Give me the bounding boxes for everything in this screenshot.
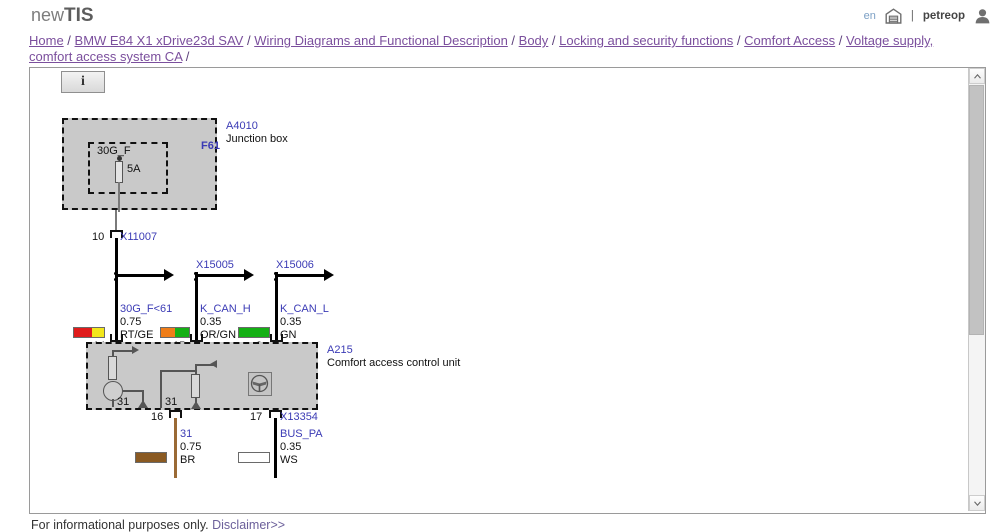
fuse-symbol [115,161,123,183]
junction-box-A4010: 30G_F 5A [62,118,217,210]
fuse-rating-label: 5A [127,163,140,175]
wire-csa-bottom-2: 0.35 [280,441,301,453]
scrollbar-thumb[interactable] [969,85,984,335]
wire-label-BUS-PA: BUS_PA [280,428,323,440]
wire-label-31: 31 [180,428,192,440]
scroll-up-button[interactable] [969,68,985,84]
control-unit-A215: 31 31 [86,342,318,410]
symbol-wire [160,370,162,408]
fuse-terminal-dot [117,156,122,161]
pin-label-10: 10 [92,231,104,243]
wire-colour-code-bottom-2: WS [280,454,298,466]
wire-K-CAN-L [275,272,278,342]
logo-text-light: new [31,5,64,25]
breadcrumb: Home / BMW E84 X1 xDrive23d SAV / Wiring… [29,33,974,65]
wiring-diagram: i 30G_F 5A F61 A4010 Junction box 10 X11… [30,68,968,511]
junction-box-name-label: Junction box [226,133,288,145]
wire-30G-F [115,238,118,342]
resistor-symbol-2 [191,374,200,398]
wire-csa-bottom-1: 0.75 [180,441,201,453]
symbol-wire [112,350,134,352]
wire-colour-chip-2 [160,327,190,338]
wire-colour-code-1: RT/GE [120,329,153,341]
language-link[interactable]: en [864,10,876,22]
breadcrumb-item-body[interactable]: Body [519,33,549,48]
pin-label-16: 16 [151,411,163,423]
branch-arrow-1 [164,269,174,281]
wire-colour-code-2: OR/GN [200,329,236,341]
connector-cup-pin-16 [169,410,182,418]
symbol-arrow-2 [210,360,217,368]
ground-symbol-2 [191,401,201,409]
breadcrumb-separator: / [243,33,254,48]
branch-arrow-3 [324,269,334,281]
ground-symbol [138,400,148,408]
connector-cup-pin-15 [190,334,203,342]
breadcrumb-separator: / [508,33,519,48]
wire-junction-dot [194,278,197,281]
wire-junction-dot [114,272,117,275]
footer-text: For informational purposes only. [31,518,209,532]
wiring-diagram-viewer: i 30G_F 5A F61 A4010 Junction box 10 X11… [29,67,986,514]
connector-label-X11007: X11007 [120,231,157,243]
fuse-circuit-label: 30G_F [97,145,131,157]
symbol-arrow [132,346,139,354]
breadcrumb-separator: / [182,49,189,64]
breadcrumb-item-comfort-access[interactable]: Comfort Access [744,33,835,48]
connector-label-X15005: X15005 [196,259,234,271]
wire-colour-chip-1 [73,327,105,338]
logo-text-bold: TIS [64,5,94,26]
footer: For informational purposes only. Disclai… [31,518,285,532]
control-unit-id-label: A215 [327,344,353,356]
header-right-controls: en | petreop [864,8,990,24]
wire-K-CAN-H [195,272,198,342]
breadcrumb-item-locking-security[interactable]: Locking and security functions [559,33,733,48]
junction-box-exit-wire [115,210,117,230]
branch-wire-1 [118,274,166,277]
wire-colour-code-bottom-1: BR [180,454,195,466]
breadcrumb-item-home[interactable]: Home [29,33,64,48]
breadcrumb-separator: / [835,33,846,48]
app-header: newTIS en | petreop [0,0,1000,30]
vertical-scrollbar[interactable] [968,68,985,511]
fuse-output-wire [118,182,120,212]
wire-csa-3: 0.35 [280,316,301,328]
disclaimer-link[interactable]: Disclaimer>> [212,518,285,532]
scroll-down-button[interactable] [969,495,985,511]
connector-cup-pin-14 [110,334,123,342]
symbol-wire [123,390,143,392]
resistor-symbol [108,356,117,380]
wire-label-K-CAN-L: K_CAN_L [280,303,329,315]
control-unit-name-label: Comfort access control unit [327,357,460,369]
wire-colour-chip-3 [238,327,270,338]
junction-box-id-label: A4010 [226,120,258,132]
branch-wire-2 [198,274,246,277]
wire-junction-dot [274,278,277,281]
wire-junction-dot [194,272,197,275]
breadcrumb-separator: / [548,33,559,48]
breadcrumb-separator: / [733,33,744,48]
wire-colour-chip-bottom-1 [135,452,167,463]
connector-cup-pin-2 [270,334,283,342]
wire-BUS-PA [274,418,277,478]
info-button[interactable]: i [61,71,105,93]
wire-junction-dot [114,278,117,281]
wire-colour-chip-bottom-2 [238,452,270,463]
branch-arrow-2 [244,269,254,281]
breadcrumb-separator: / [64,33,75,48]
wire-label-K-CAN-H: K_CAN_H [200,303,251,315]
app-logo: newTIS [31,5,94,27]
antenna-module-icon [248,372,272,396]
symbol-wire [112,399,114,407]
wire-csa-1: 0.75 [120,316,141,328]
connector-label-X15006: X15006 [276,259,314,271]
symbol-wire [195,364,197,374]
internal-label-31-a: 31 [117,396,129,408]
pin-label-17: 17 [250,411,262,423]
user-avatar-icon[interactable] [974,8,990,24]
internal-label-31-b: 31 [165,396,177,408]
garage-icon[interactable] [885,8,902,24]
breadcrumb-item-vehicle[interactable]: BMW E84 X1 xDrive23d SAV [75,33,244,48]
branch-wire-3 [278,274,326,277]
user-name-label[interactable]: petreop [923,10,965,22]
wire-31-brown [174,418,177,478]
wire-junction-dot [274,272,277,275]
breadcrumb-item-wiring-diagrams[interactable]: Wiring Diagrams and Functional Descripti… [254,33,508,48]
wire-csa-2: 0.35 [200,316,221,328]
header-separator: | [911,10,914,22]
symbol-wire [160,370,196,372]
fuse-id-label: F61 [201,140,220,152]
connector-ref-bottom-X13354: X13354 [280,411,318,423]
wire-label-30G-F: 30G_F<61 [120,303,172,315]
